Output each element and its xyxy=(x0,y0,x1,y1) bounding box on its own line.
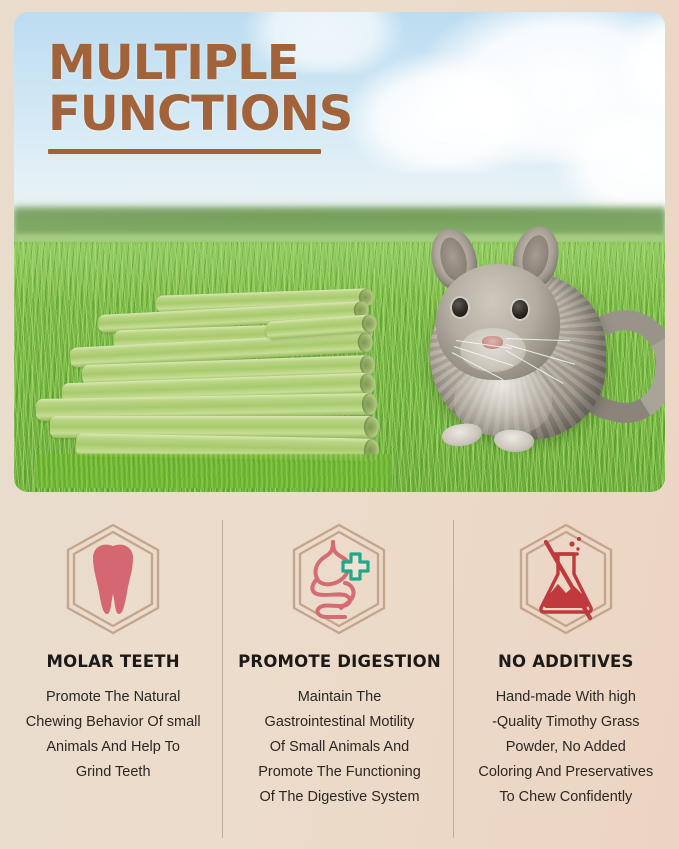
chinchilla-photo xyxy=(402,224,665,476)
headline-line-1: MULTIPLE xyxy=(48,38,352,89)
feature-body-line: Of Small Animals And xyxy=(258,735,421,760)
feature-body-line: -Quality Timothy Grass xyxy=(478,710,653,735)
feature-body: Hand-made With high -Quality Timothy Gra… xyxy=(478,685,653,810)
grass-foreground-strip xyxy=(36,454,391,488)
feature-body-line: Coloring And Preservatives xyxy=(478,760,653,785)
chinchilla-muzzle xyxy=(460,328,526,372)
feature-body-line: Of The Digestive System xyxy=(258,785,421,810)
feature-molar-teeth: MOLAR TEETH Promote The Natural Chewing … xyxy=(0,506,226,849)
headline-line-2: FUNCTIONS xyxy=(48,89,352,140)
chinchilla-eye-left xyxy=(452,298,468,317)
cloud xyxy=(344,52,544,172)
feature-body-line: Promote The Functioning xyxy=(258,760,421,785)
feature-no-additives: NO ADDITIVES Hand-made With high -Qualit… xyxy=(453,506,679,849)
feature-body-line: Hand-made With high xyxy=(478,685,653,710)
no-additives-flask-icon xyxy=(510,520,622,638)
chinchilla-foot xyxy=(441,421,484,448)
hay-stick-bundle xyxy=(36,288,391,488)
feature-body-line: Grind Teeth xyxy=(26,760,201,785)
feature-title: PROMOTE DIGESTION xyxy=(238,652,441,671)
feature-body-line: To Chew Confidently xyxy=(478,785,653,810)
stomach-intestine-icon xyxy=(283,520,395,638)
feature-body: Maintain The Gastrointestinal Motility O… xyxy=(258,685,421,810)
feature-body-line: Maintain The xyxy=(258,685,421,710)
cloud xyxy=(554,102,665,212)
feature-body-line: Chewing Behavior Of small xyxy=(26,710,201,735)
feature-title: MOLAR TEETH xyxy=(47,652,180,671)
feature-body-line: Promote The Natural xyxy=(26,685,201,710)
hero-photo-card: MULTIPLE FUNCTIONS xyxy=(14,12,665,492)
chinchilla-eye-right xyxy=(512,300,528,319)
headline-underline xyxy=(48,149,321,154)
feature-title: NO ADDITIVES xyxy=(498,652,634,671)
feature-body-line: Powder, No Added xyxy=(478,735,653,760)
features-section: MOLAR TEETH Promote The Natural Chewing … xyxy=(0,506,679,849)
tooth-icon xyxy=(57,520,169,638)
feature-body-line: Gastrointestinal Motility xyxy=(258,710,421,735)
feature-body: Promote The Natural Chewing Behavior Of … xyxy=(26,685,201,785)
feature-body-line: Animals And Help To xyxy=(26,735,201,760)
feature-promote-digestion: PROMOTE DIGESTION Maintain The Gastroint… xyxy=(226,506,452,849)
headline-block: MULTIPLE FUNCTIONS xyxy=(48,38,352,154)
